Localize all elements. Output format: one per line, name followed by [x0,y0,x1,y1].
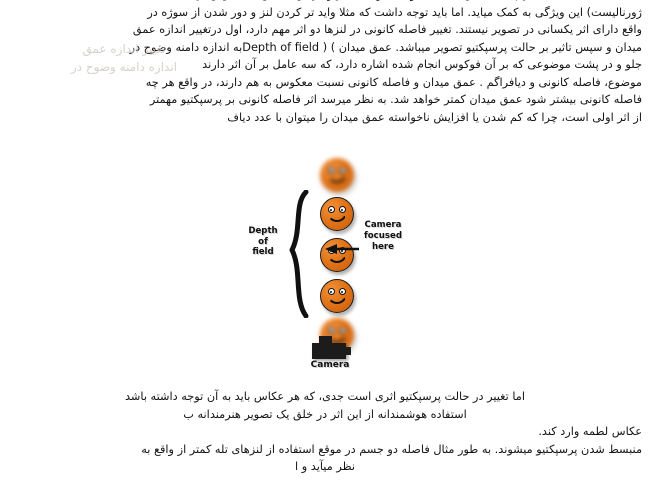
subject-ball-blurred-far [320,158,354,192]
bottom-text-line: اما تغییر در حالت پرسپکتیو اثری است جدی،… [8,388,642,406]
camera-icon [312,336,348,360]
camera-lens [346,347,351,355]
bottom-text-line: منبسط شدن پرسپکتیو میشوند. به طور مثال ف… [8,441,642,459]
top-text-line: موضوع، فاصله کانونی و دیافراگم . عمق مید… [8,74,642,92]
depth-of-field-brace-icon [286,190,312,318]
camera-body [312,343,346,359]
top-text-line: از اثر اولی است، چرا که کم شدن یا افزایش… [8,109,642,127]
bottom-text-line: نظر میآید و ا [8,458,642,476]
top-text-line: فاصله کانونی بیشتر شود عمق میدان کمتر خو… [8,91,642,109]
focus-label-line: Camera [352,220,414,231]
top-text-line: میدان و سپس تاثیر بر حالت پرسپکتیو تصویر… [8,39,642,57]
top-text-line: جلو و در پشت موضوعی که بر آن فوکوس انجام… [8,56,642,74]
camera-caption: Camera [298,360,362,370]
focus-arrow-left-icon [325,240,359,252]
bottom-text-line: استفاده هوشمندانه از این اثر در خلق یک ت… [8,406,642,424]
bottom-text-line: عکاس لطمه وارد کند. [8,423,642,441]
subject-ball-sharp-far [320,197,354,231]
top-text-block: عکاسی مبتدی‌هاست. اگر چه گاهی بواسطه محد… [0,0,650,126]
subject-ball-sharp-near [320,279,354,313]
bottom-text-block: اما تغییر در حالت پرسپکتیو اثری است جدی،… [0,388,650,476]
dof-label-line: Depth [240,226,286,237]
dof-label-line: field [240,247,286,258]
focus-label-line: here [352,242,414,253]
depth-of-field-label: Depth of field [240,226,286,258]
camera-focused-label: Camera focused here [352,220,414,253]
top-text-line: واقع دارای اثر یکسانی در تصویر نیستند. ت… [8,21,642,39]
top-text-line: ژورنالیست) این ویژگی به کمک میاید. اما ب… [8,4,642,22]
dof-label-line: of [240,237,286,248]
depth-of-field-diagram: Depth of field Camera focused here Camer… [240,158,440,376]
focus-label-line: focused [352,231,414,242]
